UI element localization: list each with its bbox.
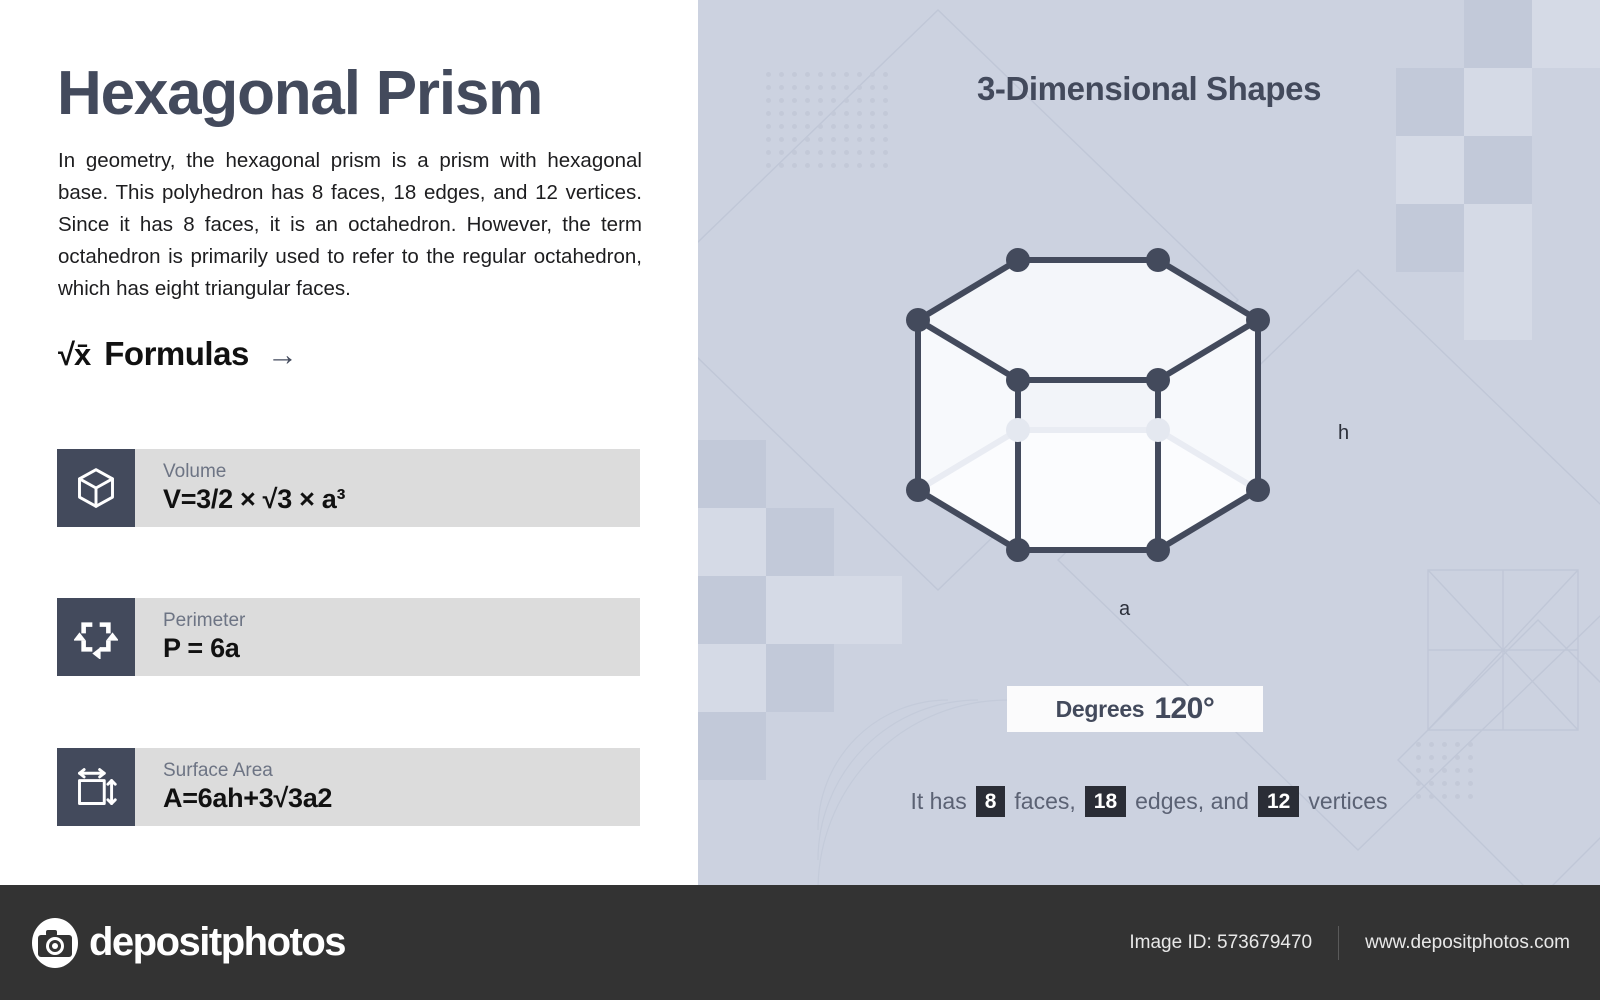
logo-text: depositphotos (89, 920, 345, 965)
formulas-heading: √x̄ Formulas → (58, 335, 298, 373)
formula-value: V=3/2 × √3 × a³ (163, 484, 640, 515)
faces-word: faces, (1014, 788, 1075, 815)
right-panel: 3-Dimensional Shapes (698, 0, 1600, 885)
hexagonal-prism-figure (878, 210, 1378, 630)
height-label: h (1338, 422, 1349, 445)
footer-meta: Image ID: 573679470 www.depositphotos.co… (1129, 926, 1570, 960)
description-text: In geometry, the hexagonal prism is a pr… (58, 145, 642, 305)
degrees-badge: Degrees 120° (1007, 686, 1263, 732)
edges-word: edges, and (1135, 788, 1249, 815)
camera-icon (30, 918, 80, 968)
formula-label: Volume (163, 461, 640, 483)
footer-bar: depositphotos Image ID: 573679470 www.de… (0, 885, 1600, 1000)
degrees-value: 120° (1154, 692, 1214, 726)
stats-line: It has 8 faces, 18 edges, and 12 vertice… (698, 786, 1600, 817)
formula-card-body: Surface Area A=6ah+3√3a2 (135, 748, 640, 826)
faces-count-chip: 8 (976, 786, 1006, 817)
formula-card-surface-area: Surface Area A=6ah+3√3a2 (57, 748, 640, 826)
image-id: Image ID: 573679470 (1129, 932, 1312, 954)
side-label: a (1119, 598, 1130, 621)
recycle-icon (57, 598, 135, 676)
formula-value: P = 6a (163, 633, 640, 664)
vertices-count-chip: 12 (1258, 786, 1299, 817)
website-url[interactable]: www.depositphotos.com (1365, 932, 1570, 954)
formula-card-body: Perimeter P = 6a (135, 598, 640, 676)
formula-value: A=6ah+3√3a2 (163, 783, 640, 814)
dimensions-icon (57, 748, 135, 826)
square-root-icon: √x̄ (58, 339, 90, 370)
formula-label: Perimeter (163, 610, 640, 632)
formula-label: Surface Area (163, 760, 640, 782)
poster-canvas: Hexagonal Prism In geometry, the hexagon… (0, 0, 1600, 1000)
hexagonal-prism-svg (878, 210, 1378, 630)
left-panel: Hexagonal Prism In geometry, the hexagon… (0, 0, 698, 885)
formula-card-perimeter: Perimeter P = 6a (57, 598, 640, 676)
edges-count-chip: 18 (1085, 786, 1126, 817)
vertices-word: vertices (1308, 788, 1387, 815)
arrow-right-icon: → (267, 339, 298, 370)
stats-prefix: It has (910, 788, 966, 815)
formulas-heading-label: Formulas (104, 335, 249, 373)
footer-divider (1338, 926, 1339, 960)
page-title: Hexagonal Prism (57, 58, 542, 129)
formula-card-body: Volume V=3/2 × √3 × a³ (135, 449, 640, 527)
cube-icon (57, 449, 135, 527)
depositphotos-logo[interactable]: depositphotos (30, 918, 345, 968)
section-title: 3-Dimensional Shapes (698, 70, 1600, 108)
degrees-label: Degrees (1056, 696, 1145, 723)
formula-card-volume: Volume V=3/2 × √3 × a³ (57, 449, 640, 527)
